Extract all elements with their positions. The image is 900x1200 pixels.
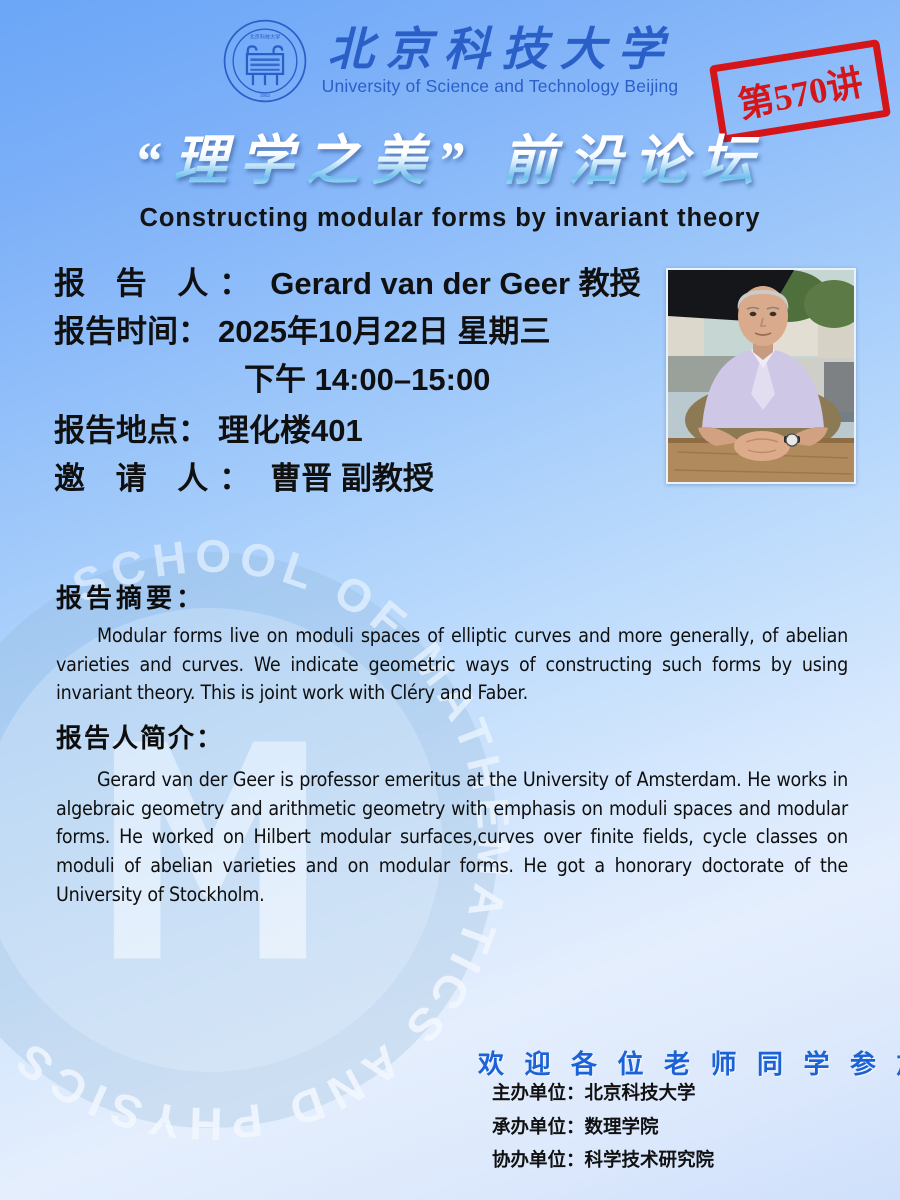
abstract-body: Modular forms live on moduli spaces of e… xyxy=(56,622,848,708)
biography-paragraph: Gerard van der Geer is professor emeritu… xyxy=(56,766,848,909)
organizer-row: 主办单位：北京科技大学 xyxy=(492,1084,714,1103)
organizer-row: 承办单位：数理学院 xyxy=(492,1118,714,1137)
logo-year: 1952 xyxy=(259,93,270,98)
info-row-place: 报告地点： 理化楼401 xyxy=(54,415,664,446)
poster-root: SCHOOL OF MATHEMATICS AND PHYSICS 北京科技大学… xyxy=(0,0,900,1200)
info-row-time: 报告时间： 2025年10月22日 星期三 xyxy=(54,316,664,347)
speaker-photo xyxy=(666,268,856,484)
biography-heading: 报告人简介： xyxy=(56,718,224,755)
university-name-cn: 北京科技大学 xyxy=(322,25,679,75)
university-name-en: University of Science and Technology Bei… xyxy=(322,76,679,97)
forum-banner-text: “理学之美” 前沿论坛 xyxy=(128,116,772,195)
host-label: 邀 请 人： xyxy=(54,463,261,494)
organizer-row: 协办单位：科学技术研究院 xyxy=(492,1151,714,1170)
speaker-photo-image xyxy=(668,270,856,484)
abstract-paragraph: Modular forms live on moduli spaces of e… xyxy=(56,622,848,708)
time-label: 报告时间： xyxy=(54,316,209,347)
forum-banner: “理学之美” 前沿论坛 xyxy=(0,116,900,195)
host-value: 曹晋 副教授 xyxy=(270,463,434,494)
lecture-info-block: 报 告 人： Gerard van der Geer 教授 报告时间： 2025… xyxy=(54,268,664,511)
time-value-secondary: 下午 14:00–15:00 xyxy=(244,364,490,395)
place-label: 报告地点： xyxy=(54,415,209,446)
speaker-value: Gerard van der Geer 教授 xyxy=(270,268,640,299)
lecture-title: Constructing modular forms by invariant … xyxy=(0,204,900,233)
biography-body: Gerard van der Geer is professor emeritu… xyxy=(56,766,848,909)
university-name-block: 北京科技大学 University of Science and Technol… xyxy=(322,25,679,97)
place-value: 理化楼401 xyxy=(218,415,363,446)
info-row-host: 邀 请 人： 曹晋 副教授 xyxy=(54,463,664,494)
logo-cn-ring: 北京科技大学 xyxy=(249,33,280,41)
abstract-heading: 报告摘要： xyxy=(56,578,206,615)
info-row-time-secondary: 下午 14:00–15:00 xyxy=(54,364,664,395)
info-row-speaker: 报 告 人： Gerard van der Geer 教授 xyxy=(54,268,664,299)
ustb-logo-icon: 北京科技大学 1952 xyxy=(222,18,308,104)
speaker-label: 报 告 人： xyxy=(54,268,261,299)
organizers-block: 主办单位：北京科技大学 承办单位：数理学院 协办单位：科学技术研究院 xyxy=(492,1084,714,1185)
time-value: 2025年10月22日 星期三 xyxy=(218,316,551,347)
welcome-message: 欢 迎 各 位 老 师 同 学 参 加 ! xyxy=(478,1044,900,1081)
